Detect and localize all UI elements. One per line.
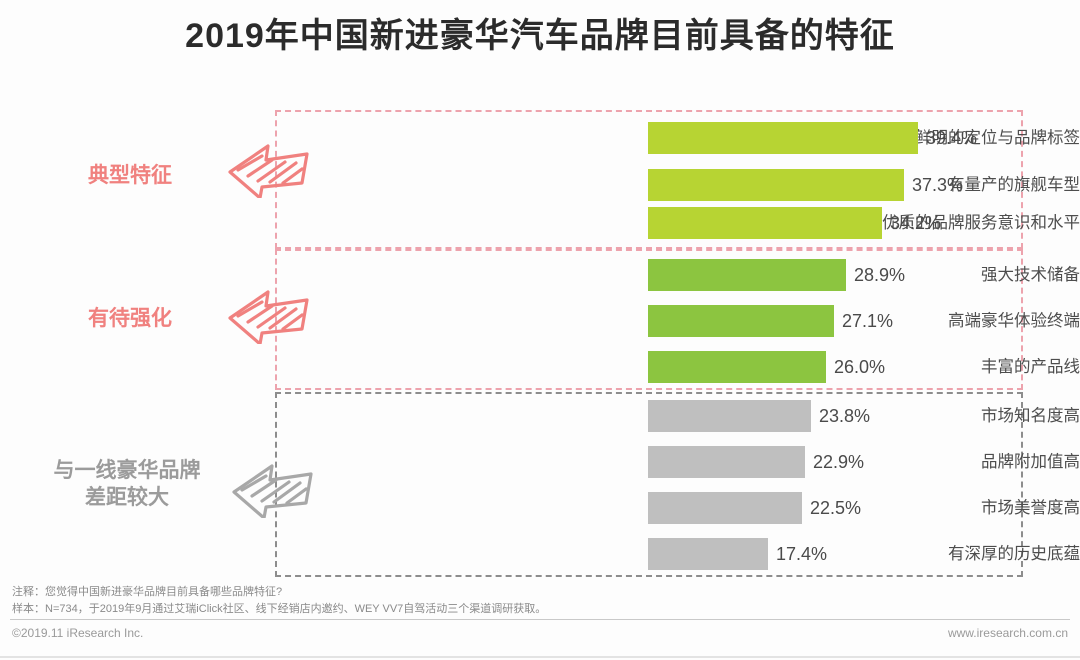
bar-value-label: 37.3% [912,169,963,201]
bottom-divider [0,656,1080,658]
bar-value-label: 22.9% [813,446,864,478]
bar-row: 强大技术储备 28.9% [0,259,1080,291]
bar-row: 优质的品牌服务意识和水平 34.2% [0,207,1080,239]
bar-row: 有量产的旗舰车型 37.3% [0,169,1080,201]
footnote-sample: 样本：N=734，于2019年9月通过艾瑞iClick社区、线下经销店内邀约、W… [12,601,546,618]
bar-value-label: 17.4% [776,538,827,570]
footnotes: 注释：您觉得中国新进豪华品牌目前具备哪些品牌特征? 样本：N=734，于2019… [12,584,546,618]
bar-value-label: 28.9% [854,259,905,291]
bar-row: 品牌附加值高 22.9% [0,446,1080,478]
footnote-question: 注释：您觉得中国新进豪华品牌目前具备哪些品牌特征? [12,584,546,601]
bar-row: 有深厚的历史底蕴 17.4% [0,538,1080,570]
bar-value-label: 22.5% [810,492,861,524]
bar-row: 个性鲜明的定位与品牌标签 39.4% [0,122,1080,154]
website-url[interactable]: www.iresearch.com.cn [948,626,1068,640]
footer-divider [10,619,1070,620]
copyright-text: ©2019.11 iResearch Inc. [12,626,143,640]
bar-value-label: 23.8% [819,400,870,432]
bar-rect [648,538,768,570]
bar-rect [648,207,882,239]
bar-rect [648,305,834,337]
bar-rect [648,259,846,291]
bar-value-label: 27.1% [842,305,893,337]
bar-row: 高端豪华体验终端 27.1% [0,305,1080,337]
bar-rect [648,446,805,478]
bar-value-label: 26.0% [834,351,885,383]
bar-rect [648,169,904,201]
bar-value-label: 39.4% [926,122,977,154]
bar-rect [648,492,802,524]
bar-rect [648,400,811,432]
bar-value-label: 34.2% [890,207,941,239]
bar-rect [648,122,918,154]
bar-rect [648,351,826,383]
bar-row: 市场知名度高 23.8% [0,400,1080,432]
bar-row: 丰富的产品线 26.0% [0,351,1080,383]
chart-plate: 典型特征 有待强化 与一线豪华品牌 差距较大 [0,0,1080,660]
bar-row: 市场美誉度高 22.5% [0,492,1080,524]
